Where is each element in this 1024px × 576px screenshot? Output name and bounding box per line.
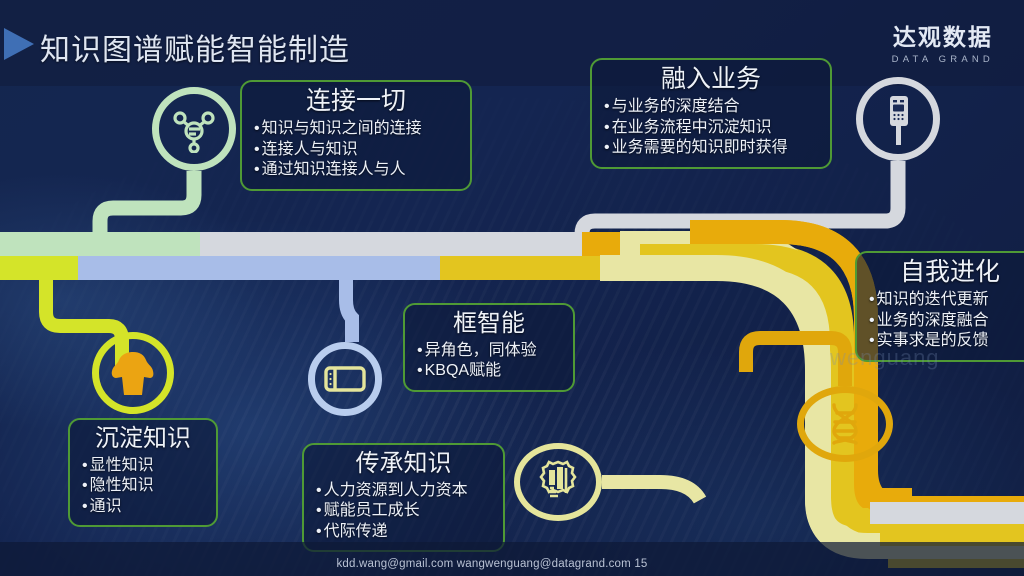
slide-canvas: 知识图谱赋能智能制造 达观数据 DATA GRAND xyxy=(0,0,1024,576)
list-item: 连接人与知识 xyxy=(254,140,458,160)
list-item: 通过知识连接人与人 xyxy=(254,160,458,180)
list-item: 业务的深度融合 xyxy=(869,311,1024,331)
box-title: 连接一切 xyxy=(254,86,458,117)
pipe-blue xyxy=(346,280,352,342)
band-green-1 xyxy=(0,232,200,256)
pipe-pale-gear xyxy=(602,482,700,500)
list-item: 人力资源到人力资本 xyxy=(316,481,491,501)
list-item: KBQA赋能 xyxy=(417,361,561,381)
person-icon xyxy=(92,332,174,414)
dna-helix-icon xyxy=(797,386,893,462)
logo-text-cn: 达观数据 xyxy=(892,26,994,49)
title-triangle-icon xyxy=(4,28,34,60)
info-box-deposit: 沉淀知识 显性知识 隐性知识 通识 xyxy=(68,418,218,527)
band-gray-stub xyxy=(540,232,582,256)
list-item: 业务需要的知识即时获得 xyxy=(604,138,818,158)
search-box-icon xyxy=(308,342,382,416)
box-bullets: 显性知识 隐性知识 通识 xyxy=(82,456,204,517)
network-node-icon xyxy=(152,87,236,171)
box-title: 融入业务 xyxy=(604,64,818,95)
list-item: 赋能员工成长 xyxy=(316,501,491,521)
info-box-frame: 框智能 异角色，同体验 KBQA赋能 xyxy=(403,303,575,392)
list-item: 代际传递 xyxy=(316,522,491,542)
band-gray-1 xyxy=(200,232,540,256)
gear-growth-icon xyxy=(514,443,602,521)
box-bullets: 知识的迭代更新 业务的深度融合 实事求是的反馈 xyxy=(869,290,1024,351)
list-item: 与业务的深度结合 xyxy=(604,97,818,117)
list-item: 知识与知识之间的连接 xyxy=(254,119,458,139)
list-item: 通识 xyxy=(82,497,204,517)
list-item: 显性知识 xyxy=(82,456,204,476)
footer-contact-text: kdd.wang@gmail.com wangwenguang@datagran… xyxy=(0,558,1024,570)
info-box-evolve: 自我进化 知识的迭代更新 业务的深度融合 实事求是的反馈 xyxy=(855,251,1024,362)
band-blue-2 xyxy=(78,256,440,280)
list-item: 在业务流程中沉淀知识 xyxy=(604,118,818,138)
band-gray-bottom xyxy=(870,502,1024,524)
box-title: 沉淀知识 xyxy=(82,424,204,454)
info-box-connect: 连接一切 知识与知识之间的连接 连接人与知识 通过知识连接人与人 xyxy=(240,80,472,191)
brand-logo: 达观数据 DATA GRAND xyxy=(892,26,994,65)
band-yellow-2a xyxy=(440,256,540,280)
info-box-inherit: 传承知识 人力资源到人力资本 赋能员工成长 代际传递 xyxy=(302,443,505,552)
list-item: 实事求是的反馈 xyxy=(869,331,1024,351)
info-box-merge: 融入业务 与业务的深度结合 在业务流程中沉淀知识 业务需要的知识即时获得 xyxy=(590,58,832,169)
box-bullets: 与业务的深度结合 在业务流程中沉淀知识 业务需要的知识即时获得 xyxy=(604,97,818,158)
box-title: 自我进化 xyxy=(869,257,1024,288)
page-title: 知识图谱赋能智能制造 xyxy=(40,25,350,69)
box-bullets: 知识与知识之间的连接 连接人与知识 通过知识连接人与人 xyxy=(254,119,458,180)
list-item: 知识的迭代更新 xyxy=(869,290,1024,310)
list-item: 隐性知识 xyxy=(82,476,204,496)
list-item: 异角色，同体验 xyxy=(417,341,561,361)
logo-text-en: DATA GRAND xyxy=(892,54,994,65)
box-title: 框智能 xyxy=(417,309,561,339)
band-lime-2 xyxy=(0,256,78,280)
box-bullets: 异角色，同体验 KBQA赋能 xyxy=(417,341,561,382)
box-title: 传承知识 xyxy=(316,449,491,479)
handheld-scanner-icon xyxy=(856,77,940,161)
box-bullets: 人力资源到人力资本 赋能员工成长 代际传递 xyxy=(316,481,491,542)
